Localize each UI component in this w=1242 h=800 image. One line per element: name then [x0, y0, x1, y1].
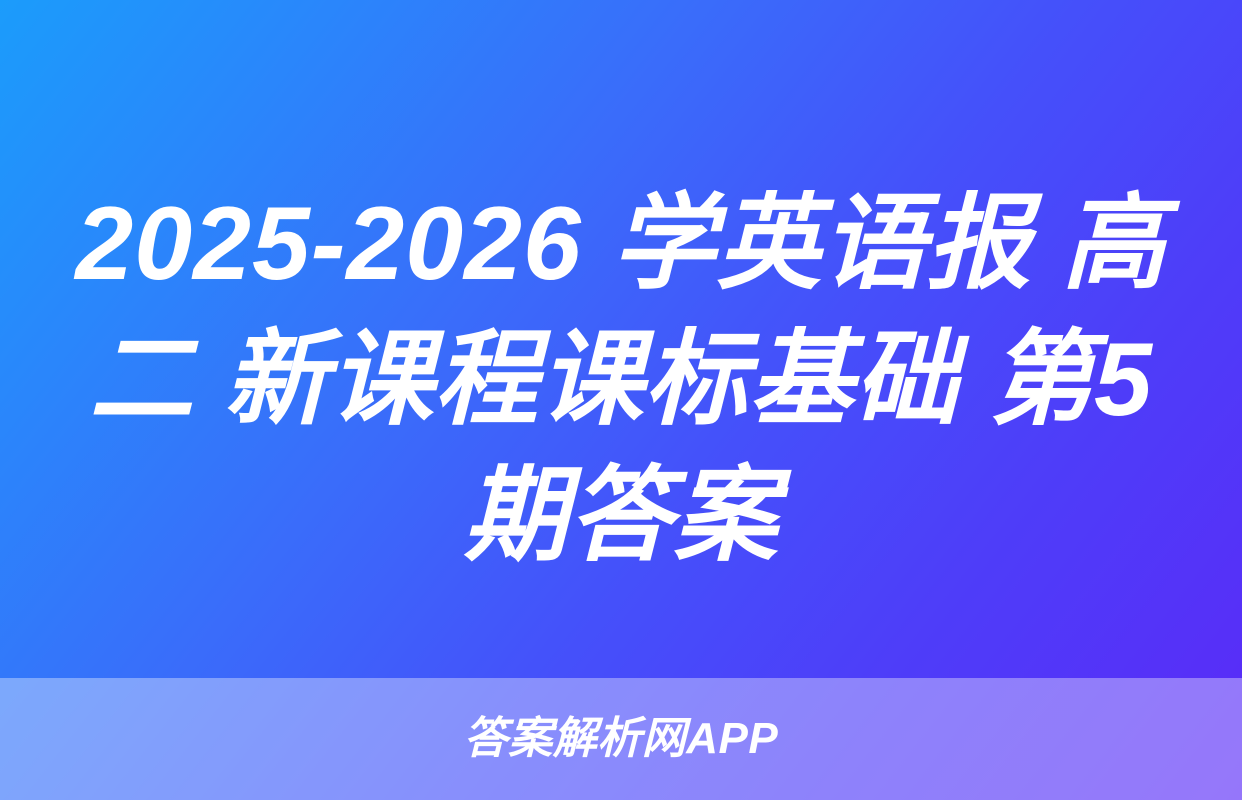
answer-card: 2025-2026 学英语报 高 二 新课程课标基础 第5 期答案 答案解析网A…	[0, 0, 1242, 800]
title-line-3: 期答案	[74, 448, 1168, 584]
app-watermark-label: 答案解析网APP	[464, 717, 778, 761]
footer-watermark-band: 答案解析网APP	[0, 678, 1242, 800]
title-line-2: 二 新课程课标基础 第5	[74, 312, 1168, 448]
page-title: 2025-2026 学英语报 高 二 新课程课标基础 第5 期答案	[0, 176, 1242, 584]
title-line-1: 2025-2026 学英语报 高	[74, 176, 1168, 312]
